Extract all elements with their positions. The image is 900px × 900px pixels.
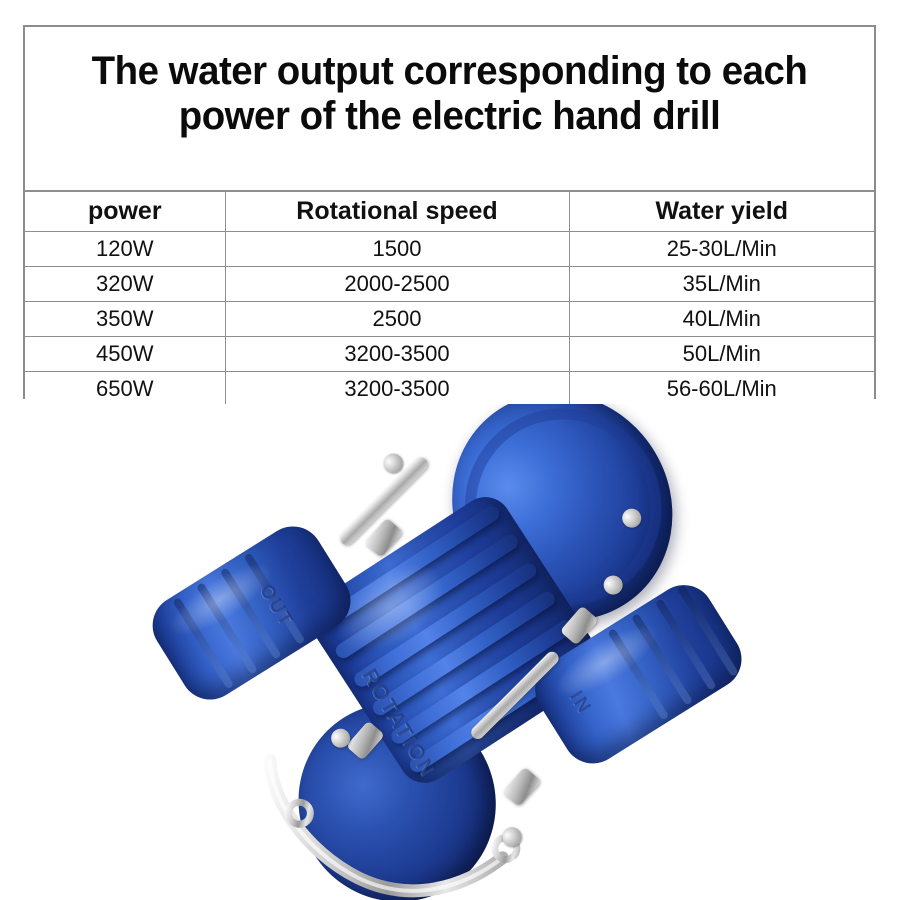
cell-power: 120W — [25, 232, 225, 267]
column-header-speed: Rotational speed — [225, 191, 569, 232]
table-row: 450W 3200-3500 50L/Min — [25, 337, 874, 372]
cell-yield: 56-60L/Min — [569, 372, 874, 407]
barrel-ring — [655, 598, 717, 690]
table-row: 120W 1500 25-30L/Min — [25, 232, 874, 267]
spec-table: power Rotational speed Water yield 120W … — [25, 190, 874, 407]
cell-power: 650W — [25, 372, 225, 407]
column-header-power: power — [25, 191, 225, 232]
cell-speed: 3200-3500 — [225, 337, 569, 372]
outlet-barrel: OUT — [141, 515, 361, 711]
table-row: 350W 2500 40L/Min — [25, 302, 874, 337]
cell-yield: 50L/Min — [569, 337, 874, 372]
cell-power: 320W — [25, 267, 225, 302]
table-row: 650W 3200-3500 56-60L/Min — [25, 372, 874, 407]
cell-speed: 2000-2500 — [225, 267, 569, 302]
cell-speed: 1500 — [225, 232, 569, 267]
cell-speed: 2500 — [225, 302, 569, 337]
pump-assembly: ROTATION OUT IN — [109, 404, 801, 900]
table-header-row: power Rotational speed Water yield — [25, 191, 874, 232]
barrel-ring — [607, 628, 669, 720]
cell-power: 350W — [25, 302, 225, 337]
spec-card: The water output corresponding to each p… — [23, 25, 876, 399]
cell-yield: 25-30L/Min — [569, 232, 874, 267]
cell-speed: 3200-3500 — [225, 372, 569, 407]
table-row: 320W 2000-2500 35L/Min — [25, 267, 874, 302]
cell-yield: 40L/Min — [569, 302, 874, 337]
product-photo: ROTATION OUT IN — [0, 404, 900, 900]
barrel-ring — [172, 597, 234, 689]
cell-power: 450W — [25, 337, 225, 372]
emboss-in-label: IN — [564, 688, 595, 719]
cell-yield: 35L/Min — [569, 267, 874, 302]
barrel-ring — [196, 582, 258, 674]
barrel-ring — [631, 613, 693, 705]
barrel-ring — [677, 585, 739, 677]
page-title: The water output corresponding to each p… — [42, 27, 857, 139]
column-header-yield: Water yield — [569, 191, 874, 232]
